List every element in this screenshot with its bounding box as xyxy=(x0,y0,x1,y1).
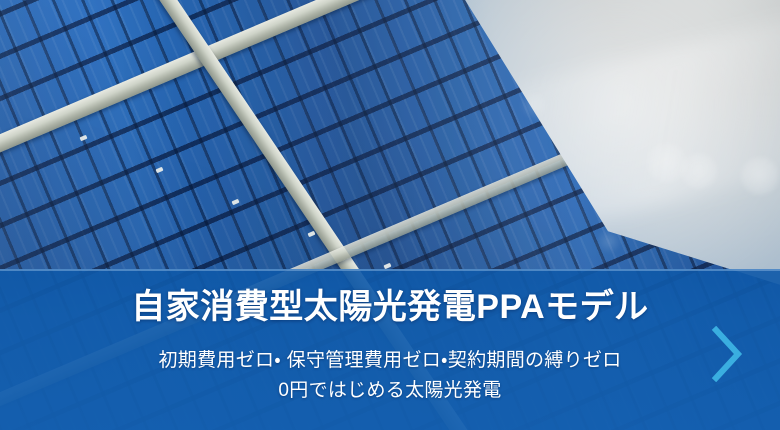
chevron-right-icon[interactable] xyxy=(709,326,745,382)
subtitle-line-2: 0円ではじめる太陽光発電 xyxy=(278,376,501,405)
lens-flare-bokeh xyxy=(740,156,780,196)
lens-flare-bokeh xyxy=(680,152,718,190)
next-slide-button[interactable] xyxy=(709,326,745,382)
lens-flare-bokeh xyxy=(596,228,622,254)
lens-flare-bokeh xyxy=(520,90,550,120)
caption-content: 自家消費型太陽光発電PPAモデル 初期費用ゼロ・ 保守管理費用ゼロ・契約期間の縛… xyxy=(0,269,780,430)
hero-banner: 自家消費型太陽光発電PPAモデル 初期費用ゼロ・ 保守管理費用ゼロ・契約期間の縛… xyxy=(0,0,780,430)
page-title: 自家消費型太陽光発電PPAモデル xyxy=(131,289,648,326)
subtitle-line-1: 初期費用ゼロ・ 保守管理費用ゼロ・契約期間の縛りゼロ xyxy=(159,346,622,375)
